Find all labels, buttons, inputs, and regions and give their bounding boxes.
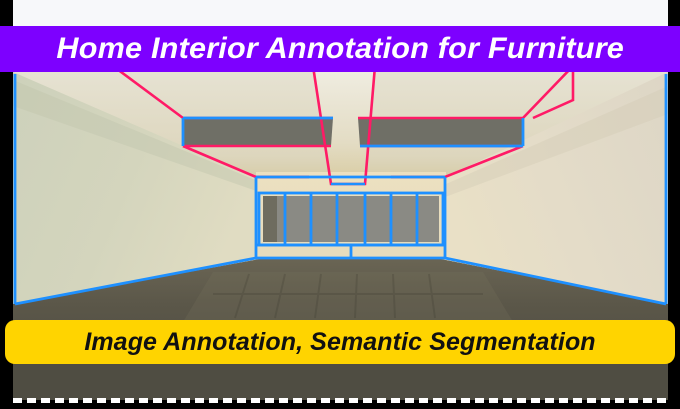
title-banner: Home Interior Annotation for Furniture	[0, 26, 680, 72]
subtitle-text: Image Annotation, Semantic Segmentation	[84, 330, 595, 355]
subtitle-banner: Image Annotation, Semantic Segmentation	[5, 320, 675, 364]
floor-reflection	[183, 272, 513, 322]
window-glass-band	[263, 196, 439, 242]
bottom-black-bar	[0, 403, 680, 409]
segment-right-ceiling-beam	[358, 118, 523, 146]
top-white-strip	[13, 0, 680, 26]
segment-left-ceiling-beam	[183, 118, 333, 146]
thumbnail-canvas: Home Interior Annotation for Furniture I…	[0, 0, 680, 409]
photo-bottom-fill	[13, 364, 668, 400]
title-text: Home Interior Annotation for Furniture	[56, 34, 624, 64]
window-glass-dark-left	[263, 196, 277, 242]
